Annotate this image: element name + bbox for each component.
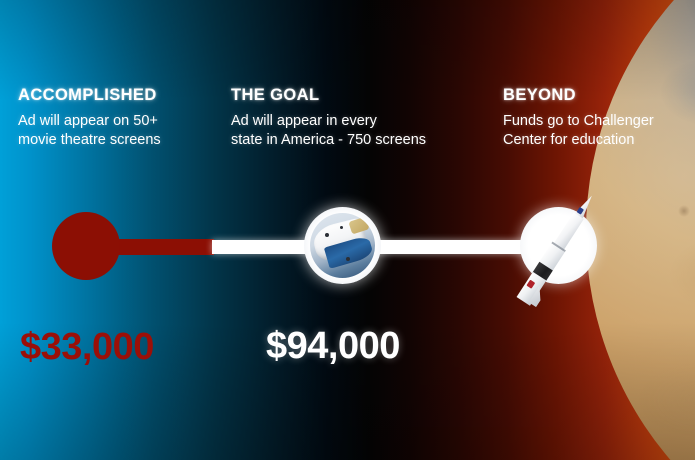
milestone-heading: BEYOND bbox=[503, 86, 654, 105]
milestone-text-beyond: BEYOND Funds go to Challenger Center for… bbox=[503, 86, 654, 150]
milestone-heading: ACCOMPLISHED bbox=[18, 86, 161, 105]
shuttle-detail-dot bbox=[325, 233, 329, 237]
milestone-description-line: Funds go to Challenger bbox=[503, 112, 654, 131]
rocket-fin bbox=[529, 286, 547, 308]
milestone-description-line: Ad will appear on 50+ bbox=[18, 112, 161, 131]
progress-bar-segment-2 bbox=[368, 240, 528, 254]
milestone-node-goal bbox=[304, 207, 381, 284]
shuttle-detail-dot bbox=[340, 226, 343, 229]
milestone-node-accomplished bbox=[52, 212, 120, 280]
milestone-description: Funds go to Challenger Center for educat… bbox=[503, 112, 654, 150]
progress-bar-segment-1 bbox=[212, 240, 317, 254]
milestone-heading: THE GOAL bbox=[231, 86, 426, 105]
infographic-canvas: ACCOMPLISHED Ad will appear on 50+ movie… bbox=[0, 0, 695, 460]
space-shuttle-icon bbox=[310, 213, 375, 278]
milestone-text-goal: THE GOAL Ad will appear in every state i… bbox=[231, 86, 426, 150]
milestone-node-beyond bbox=[520, 207, 597, 284]
milestone-description: Ad will appear in every state in America… bbox=[231, 112, 426, 150]
milestone-description-line: state in America - 750 screens bbox=[231, 131, 426, 150]
milestone-description-line: Center for education bbox=[503, 131, 654, 150]
milestone-amount-accomplished: $33,000 bbox=[20, 326, 154, 369]
shuttle-detail-dot bbox=[346, 257, 350, 261]
rocket-red-marking bbox=[526, 280, 535, 289]
milestone-text-accomplished: ACCOMPLISHED Ad will appear on 50+ movie… bbox=[18, 86, 161, 150]
milestone-progress-track bbox=[0, 0, 695, 460]
milestone-description-line: Ad will appear in every bbox=[231, 112, 426, 131]
milestone-description-line: movie theatre screens bbox=[18, 131, 161, 150]
milestone-description: Ad will appear on 50+ movie theatre scre… bbox=[18, 112, 161, 150]
milestone-amount-goal: $94,000 bbox=[266, 325, 400, 368]
